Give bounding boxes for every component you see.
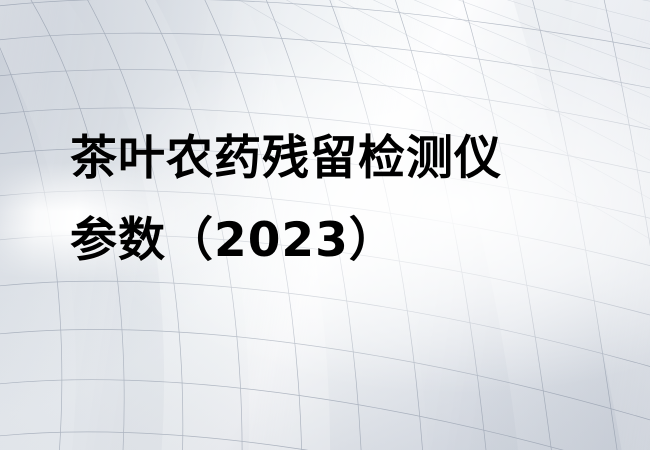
title-line-primary: 茶叶农药残留检测仪 [70, 118, 610, 200]
title-banner: 茶叶农药残留检测仪 参数（2023） [0, 0, 650, 450]
title-line-secondary: 参数（2023） [70, 200, 610, 282]
page-title: 茶叶农药残留检测仪 参数（2023） [70, 118, 610, 282]
